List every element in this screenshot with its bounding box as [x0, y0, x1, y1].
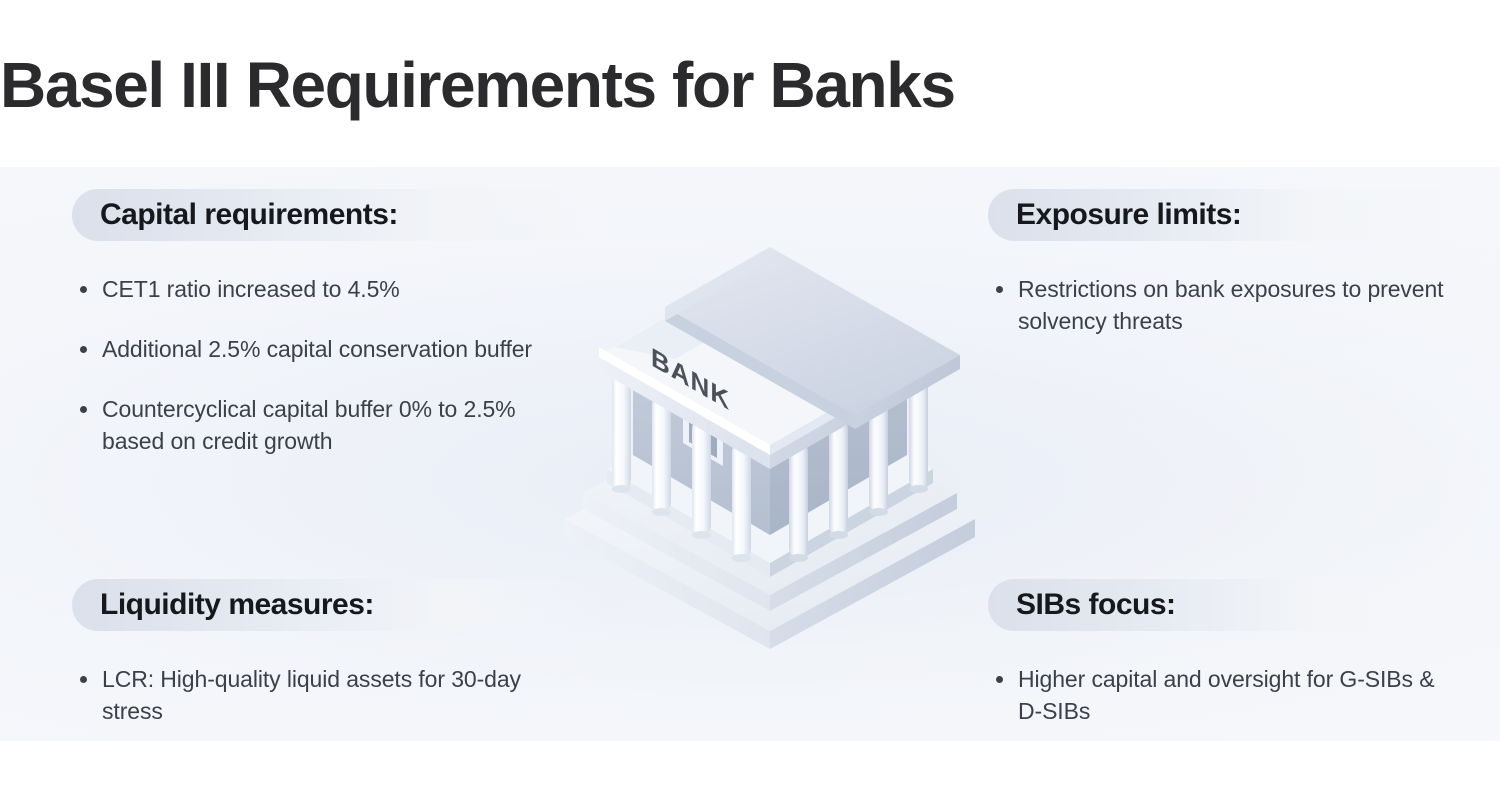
- column: [652, 392, 671, 516]
- bullet-list-capital-requirements: CET1 ratio increased to 4.5% Additional …: [72, 273, 632, 457]
- section-heading-pill-capital-requirements: Capital requirements:: [72, 189, 632, 241]
- list-item: Countercyclical capital buffer 0% to 2.5…: [72, 393, 572, 457]
- section-heading-pill-sibs-focus: SIBs focus:: [988, 579, 1500, 631]
- content-panel: Capital requirements: CET1 ratio increas…: [0, 167, 1500, 741]
- column: [789, 438, 808, 562]
- bullet-dot-icon: [80, 346, 87, 353]
- section-capital-requirements: Capital requirements: CET1 ratio increas…: [72, 189, 632, 457]
- section-heading-label: Liquidity measures:: [100, 588, 374, 622]
- section-heading-label: SIBs focus:: [1016, 588, 1176, 622]
- list-item-text: Higher capital and oversight for G-SIBs …: [1018, 666, 1434, 724]
- page-title: Basel III Requirements for Banks: [0, 48, 1460, 122]
- bullet-dot-icon: [80, 676, 87, 683]
- section-sibs-focus: SIBs focus: Higher capital and oversight…: [988, 579, 1500, 727]
- list-item: Higher capital and oversight for G-SIBs …: [988, 663, 1448, 727]
- bullet-dot-icon: [996, 286, 1003, 293]
- list-item: CET1 ratio increased to 4.5%: [72, 273, 572, 305]
- bank-building-icon: BANK: [555, 247, 985, 667]
- list-item: Additional 2.5% capital conservation buf…: [72, 333, 572, 365]
- section-heading-label: Capital requirements:: [100, 198, 398, 232]
- column: [829, 415, 848, 539]
- section-heading-pill-exposure-limits: Exposure limits:: [988, 189, 1500, 241]
- section-liquidity-measures: Liquidity measures: LCR: High-quality li…: [72, 579, 632, 727]
- section-heading-pill-liquidity-measures: Liquidity measures:: [72, 579, 632, 631]
- bullet-list-sibs-focus: Higher capital and oversight for G-SIBs …: [988, 663, 1500, 727]
- bullet-list-exposure-limits: Restrictions on bank exposures to preven…: [988, 273, 1500, 337]
- list-item-text: Countercyclical capital buffer 0% to 2.5…: [102, 396, 516, 454]
- column: [692, 415, 711, 539]
- list-item: Restrictions on bank exposures to preven…: [988, 273, 1448, 337]
- bullet-list-liquidity-measures: LCR: High-quality liquid assets for 30-d…: [72, 663, 632, 727]
- section-exposure-limits: Exposure limits: Restrictions on bank ex…: [988, 189, 1500, 337]
- list-item-text: Additional 2.5% capital conservation buf…: [102, 336, 532, 362]
- bullet-dot-icon: [80, 406, 87, 413]
- list-item-text: Restrictions on bank exposures to preven…: [1018, 276, 1443, 334]
- slide-root: Basel III Requirements for Banks Capital…: [0, 0, 1500, 806]
- section-heading-label: Exposure limits:: [1016, 198, 1241, 232]
- list-item: LCR: High-quality liquid assets for 30-d…: [72, 663, 572, 727]
- column: [612, 369, 631, 493]
- list-item-text: CET1 ratio increased to 4.5%: [102, 276, 400, 302]
- column: [732, 438, 751, 562]
- bullet-dot-icon: [80, 286, 87, 293]
- list-item-text: LCR: High-quality liquid assets for 30-d…: [102, 666, 521, 724]
- bullet-dot-icon: [996, 676, 1003, 683]
